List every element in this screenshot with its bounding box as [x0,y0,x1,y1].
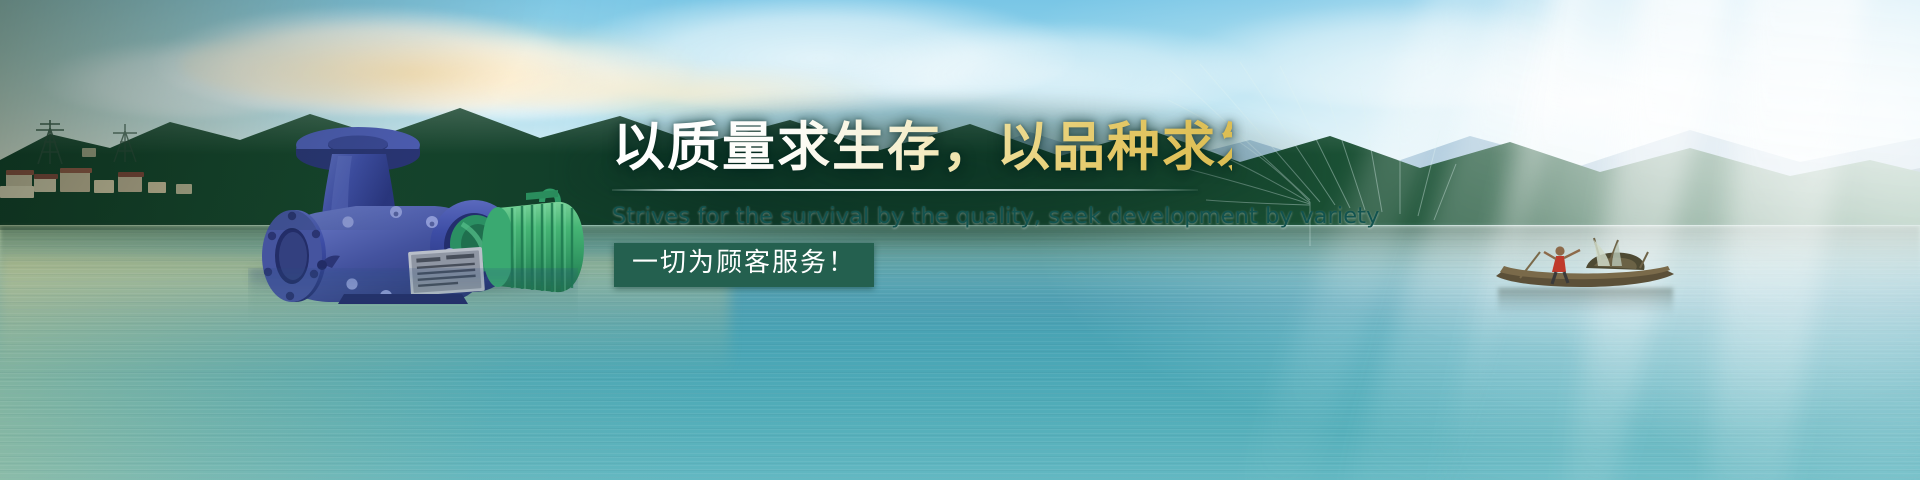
power-pylon [108,122,142,162]
banner-copy: 以质量求生存，以品种求发展 Strives for the survival b… [612,118,1232,287]
riverside-village [0,118,240,230]
power-pylon [30,118,70,164]
pump-water-reflection [248,268,578,328]
banner-subheadline: Strives for the survival by the quality,… [612,203,1232,229]
fishing-boat [1490,232,1680,302]
banner-headline: 以质量求生存，以品种求发展 [612,118,1232,177]
hero-banner: 以质量求生存，以品种求发展 Strives for the survival b… [0,0,1920,480]
headline-divider [612,189,1198,191]
service-slogan-badge: 一切为顾客服务！ [614,243,874,286]
